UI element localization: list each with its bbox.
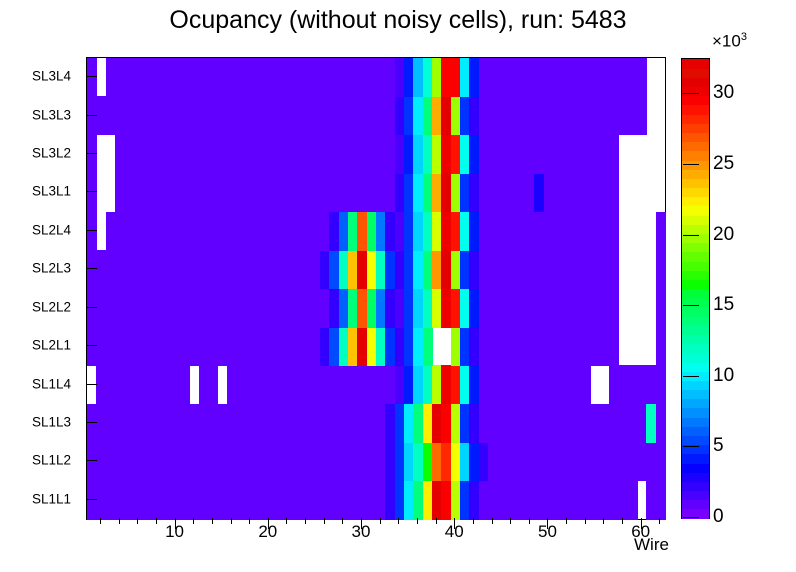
colorbar-tick — [683, 93, 699, 94]
heatmap-cell — [656, 250, 666, 289]
heatmap-cell — [87, 212, 97, 251]
heatmap-cell — [656, 481, 666, 520]
colorbar-band — [682, 261, 709, 271]
heatmap-cell — [180, 365, 190, 404]
heatmap-cell — [609, 327, 619, 366]
y-axis-tick-label-sl3l4: SL3L4 — [32, 69, 71, 84]
x-axis-tick — [286, 518, 287, 524]
colorbar-band — [682, 334, 709, 344]
x-axis-tick — [156, 518, 157, 524]
x-axis-tick — [193, 518, 194, 524]
heatmap-plot-area[interactable] — [86, 57, 666, 520]
colorbar-band — [682, 325, 709, 335]
colorbar-exponent-power: 3 — [741, 31, 747, 43]
heatmap-cell — [609, 250, 619, 289]
x-axis-tick — [641, 518, 642, 529]
x-axis-tick — [417, 518, 418, 524]
y-axis-tick-label-sl3l3: SL3L3 — [32, 107, 71, 122]
y-axis-tick — [86, 268, 97, 269]
colorbar-band — [682, 463, 709, 473]
colorbar-band — [682, 316, 709, 326]
x-axis-tick — [342, 518, 343, 524]
colorbar-band — [682, 178, 709, 188]
heatmap-cell — [656, 365, 666, 404]
colorbar-band — [682, 344, 709, 354]
y-axis-tick — [86, 191, 97, 192]
x-axis-tick — [603, 518, 604, 524]
heatmap-cell — [656, 212, 666, 251]
colorbar-tick — [683, 376, 699, 377]
colorbar-band — [682, 454, 709, 464]
colorbar-tick — [683, 164, 699, 165]
colorbar-tick-label-10: 10 — [713, 365, 734, 387]
x-axis-tick — [324, 518, 325, 524]
colorbar-band — [682, 77, 709, 87]
x-axis-tick — [305, 518, 306, 524]
colorbar-band — [682, 142, 709, 152]
y-axis-tick — [86, 345, 97, 346]
heatmap-cell — [656, 289, 666, 328]
colorbar-tick — [683, 305, 699, 306]
colorbar-band — [682, 481, 709, 491]
heatmap-cell — [609, 135, 619, 174]
y-axis-tick-label-sl2l1: SL2L1 — [32, 338, 71, 353]
x-axis-tick — [622, 518, 623, 524]
colorbar-band — [682, 87, 709, 97]
colorbar-band — [682, 389, 709, 399]
heatmap-cell — [423, 327, 433, 366]
heatmap-cell — [656, 404, 666, 443]
heatmap-cell — [656, 442, 666, 481]
colorbar-exponent-base: ×10 — [712, 32, 741, 51]
colorbar-band — [682, 279, 709, 289]
x-axis-tick — [585, 518, 586, 524]
colorbar-band — [682, 59, 709, 69]
heatmap-cell — [656, 327, 666, 366]
colorbar-band — [682, 96, 709, 106]
colorbar-band — [682, 169, 709, 179]
heatmap-cell — [637, 58, 647, 97]
heatmap-cell — [609, 173, 619, 212]
y-axis-tick-label-sl1l4: SL1L4 — [32, 376, 71, 391]
heatmap-cell — [609, 289, 619, 328]
colorbar-band — [682, 206, 709, 216]
x-axis-tick — [510, 518, 511, 524]
x-axis-tick — [454, 518, 455, 529]
colorbar-band — [682, 197, 709, 207]
y-axis-tick-label-sl2l2: SL2L2 — [32, 299, 71, 314]
y-axis-tick — [86, 230, 97, 231]
colorbar-band — [682, 472, 709, 482]
x-axis-tick — [100, 518, 101, 524]
x-axis-tick — [473, 518, 474, 524]
heatmap-cell — [609, 212, 619, 251]
colorbar-tick-label-5: 5 — [713, 435, 724, 457]
colorbar-tick — [683, 446, 699, 447]
colorbar-band — [682, 114, 709, 124]
y-axis-tick-label-sl1l3: SL1L3 — [32, 414, 71, 429]
y-axis-tick-label-sl1l2: SL1L2 — [32, 453, 71, 468]
x-axis-tick — [492, 518, 493, 524]
colorbar-tick-label-25: 25 — [713, 153, 734, 175]
colorbar-band — [682, 490, 709, 500]
x-axis-tick — [529, 518, 530, 524]
x-axis-tick — [361, 518, 362, 529]
x-axis-tick — [212, 518, 213, 524]
colorbar-band — [682, 68, 709, 78]
x-axis-tick — [119, 518, 120, 524]
heatmap-cell — [87, 173, 97, 212]
y-axis-tick-label-sl2l3: SL2L3 — [32, 261, 71, 276]
x-axis-tick — [249, 518, 250, 524]
y-axis-tick-label-sl3l2: SL3L2 — [32, 146, 71, 161]
heatmap-cell — [581, 365, 591, 404]
y-axis-tick-label-sl2l4: SL2L4 — [32, 222, 71, 237]
x-axis-tick — [398, 518, 399, 524]
colorbar-band — [682, 224, 709, 234]
y-axis-labels: SL1L1SL1L2SL1L3SL1L4SL2L1SL2L2SL2L3SL2L4… — [0, 57, 84, 518]
y-axis-tick — [86, 307, 97, 308]
colorbar-tick-label-20: 20 — [713, 224, 734, 246]
colorbar-exponent: ×103 — [712, 31, 747, 52]
colorbar-tick-label-0: 0 — [713, 506, 724, 528]
colorbar-band — [682, 417, 709, 427]
heatmap-cell — [87, 135, 97, 174]
colorbar-band — [682, 307, 709, 317]
y-axis-tick-label-sl3l1: SL3L1 — [32, 184, 71, 199]
colorbar-tick-label-15: 15 — [713, 294, 734, 316]
colorbar-band — [682, 105, 709, 115]
colorbar-band — [682, 270, 709, 280]
colorbar-band — [682, 426, 709, 436]
y-axis-tick-label-sl1l1: SL1L1 — [32, 491, 71, 506]
colorbar-band — [682, 132, 709, 142]
colorbar-band — [682, 289, 709, 299]
colorbar-band — [682, 215, 709, 225]
x-axis-title: Wire — [634, 535, 669, 555]
colorbar-band — [682, 399, 709, 409]
colorbar-tick-label-30: 30 — [713, 82, 734, 104]
page-title: Ocupancy (without noisy cells), run: 548… — [0, 6, 796, 35]
colorbar-tick — [683, 517, 699, 518]
colorbar[interactable] — [681, 58, 710, 519]
y-axis-tick — [86, 422, 97, 423]
x-axis-tick — [566, 518, 567, 524]
heatmap-cell — [87, 58, 97, 97]
y-axis-tick — [86, 153, 97, 154]
heatmap-cell — [637, 96, 647, 135]
colorbar-band — [682, 500, 709, 510]
x-axis-tick — [547, 518, 548, 529]
y-axis-tick — [86, 384, 97, 385]
x-axis-tick — [436, 518, 437, 524]
x-axis-tick — [659, 518, 660, 524]
colorbar-band — [682, 252, 709, 262]
x-axis-tick — [137, 518, 138, 524]
x-axis-tick — [380, 518, 381, 524]
heatmap-cells — [87, 58, 665, 519]
x-axis-tick — [175, 518, 176, 529]
colorbar-band — [682, 123, 709, 133]
colorbar-band — [682, 151, 709, 161]
y-axis-tick — [86, 115, 97, 116]
colorbar-band — [682, 380, 709, 390]
y-axis-tick — [86, 460, 97, 461]
heatmap-cell — [628, 481, 638, 520]
heatmap-cell — [208, 365, 218, 404]
y-axis-tick — [86, 499, 97, 500]
colorbar-band — [682, 408, 709, 418]
x-axis-tick — [268, 518, 269, 529]
colorbar-band — [682, 243, 709, 253]
y-axis-tick — [86, 76, 97, 77]
colorbar-tick — [683, 235, 699, 236]
colorbar-band — [682, 353, 709, 363]
x-axis-tick — [231, 518, 232, 524]
colorbar-band — [682, 362, 709, 372]
colorbar-band — [682, 435, 709, 445]
colorbar-band — [682, 188, 709, 198]
